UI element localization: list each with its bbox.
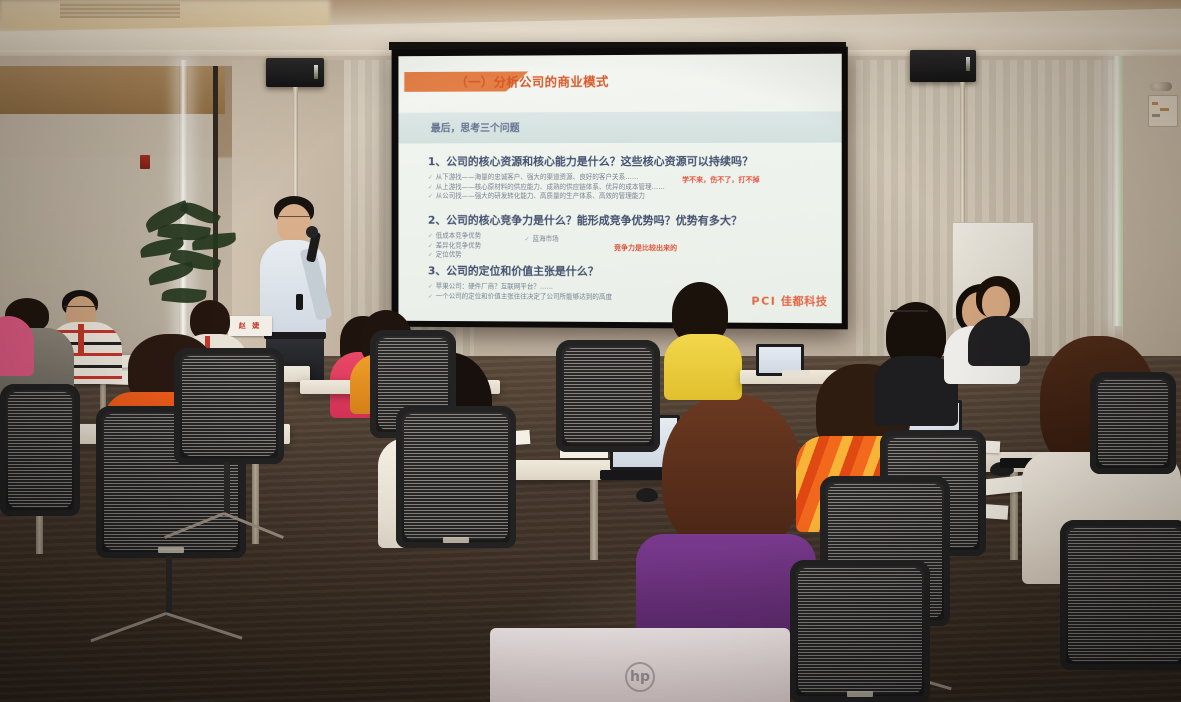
bullet: 从下游找——海量的忠诚客户、强大的渠道资源、良好的客户关系……	[428, 173, 834, 183]
laptop-hp[interactable]: hp	[490, 628, 790, 702]
bullet: 蓝海市场	[525, 235, 559, 245]
glasses-icon	[277, 216, 311, 221]
chair-stem	[166, 556, 172, 616]
logo-text: 佳都科技	[781, 295, 828, 308]
office-chair[interactable]	[174, 348, 284, 464]
ceiling-speaker-right-icon	[910, 50, 976, 82]
speaker-led-icon	[314, 65, 318, 79]
projected-slide-surface: （一）分析公司的商业模式 最后，思考三个问题 1、公司的核心资源和核心能力是什么…	[398, 54, 841, 324]
office-chair[interactable]	[1090, 372, 1176, 474]
bullet: 从公司找——强大的研发转化能力、高质量的生产体系、高效的管理能力	[428, 192, 834, 202]
office-chair[interactable]	[556, 340, 660, 452]
office-chair[interactable]	[0, 384, 80, 516]
projector-remote[interactable]	[782, 370, 810, 378]
hp-logo-icon: hp	[625, 662, 655, 692]
presentation-slide: （一）分析公司的商业模式 最后，思考三个问题 1、公司的核心资源和核心能力是什么…	[398, 54, 841, 324]
slide-title: （一）分析公司的商业模式	[455, 71, 608, 91]
presenter-badge-lanyard	[296, 294, 303, 310]
slide-question-2: 2、公司的核心竞争力是什么？能形成竞争优势吗？优势有多大？ 低成本竞争优势 差异…	[428, 212, 834, 261]
chair-stem	[224, 462, 230, 516]
logo-mark: PCI	[751, 295, 776, 308]
control-indicator-2	[1160, 108, 1169, 111]
bullet: 从上游找——核心原材料的供应能力、成熟的供应链体系、优异的成本管理……	[428, 182, 834, 192]
office-chair[interactable]	[790, 560, 930, 702]
glasses-icon	[64, 306, 98, 311]
slide-question-1: 1、公司的核心资源和核心能力是什么？这些核心资源可以持续吗？ 从下游找——海量的…	[428, 153, 834, 202]
ceiling-speaker-icon	[266, 58, 324, 87]
office-chair[interactable]	[396, 406, 516, 548]
question-3-heading: 3、公司的定位和价值主张是什么？	[428, 262, 834, 279]
question-1-heading: 1、公司的核心资源和核心能力是什么？这些核心资源可以持续吗？	[428, 153, 834, 169]
classroom-photo-scene: （一）分析公司的商业模式 最后，思考三个问题 1、公司的核心资源和核心能力是什么…	[0, 0, 1181, 702]
speaker-led-right-icon	[966, 57, 970, 71]
glasses-icon	[890, 310, 928, 316]
microphone-head-icon	[306, 226, 318, 238]
control-indicator-1	[1152, 102, 1158, 105]
question-1-bullets: 从下游找——海量的忠诚客户、强大的渠道资源、良好的客户关系…… 从上游找——核心…	[428, 173, 834, 202]
office-chair[interactable]	[1060, 520, 1181, 670]
question-2-heading: 2、公司的核心竞争力是什么？能形成竞争优势吗？优势有多大？	[428, 212, 834, 229]
slide-subtitle: 最后，思考三个问题	[431, 119, 520, 134]
wall-control-panel[interactable]	[1148, 95, 1178, 127]
question-2-red-note: 竞争力是比较出来的	[614, 243, 677, 253]
projection-screen: （一）分析公司的商业模式 最后，思考三个问题 1、公司的核心资源和核心能力是什么…	[392, 47, 848, 330]
question-2-bullets-column-2: 蓝海市场	[525, 235, 559, 245]
presenter-belt	[264, 332, 326, 339]
presenter-head	[277, 204, 311, 244]
ceiling-vent	[60, 2, 180, 18]
window-light-slit-right	[1112, 56, 1123, 326]
wall-fixture	[1150, 82, 1172, 91]
lanyard	[78, 324, 84, 356]
company-logo: PCI 佳都科技	[751, 293, 827, 309]
name-card: 赵 婕	[228, 316, 272, 336]
table-leg	[590, 480, 598, 560]
control-indicator-3	[1152, 114, 1160, 117]
wood-wall-trim	[0, 66, 225, 114]
question-1-red-note: 学不来，伤不了，打不掉	[682, 175, 760, 185]
speaker-mount-left	[293, 87, 298, 207]
fire-alarm-icon	[140, 155, 150, 169]
mouse[interactable]	[636, 488, 658, 502]
